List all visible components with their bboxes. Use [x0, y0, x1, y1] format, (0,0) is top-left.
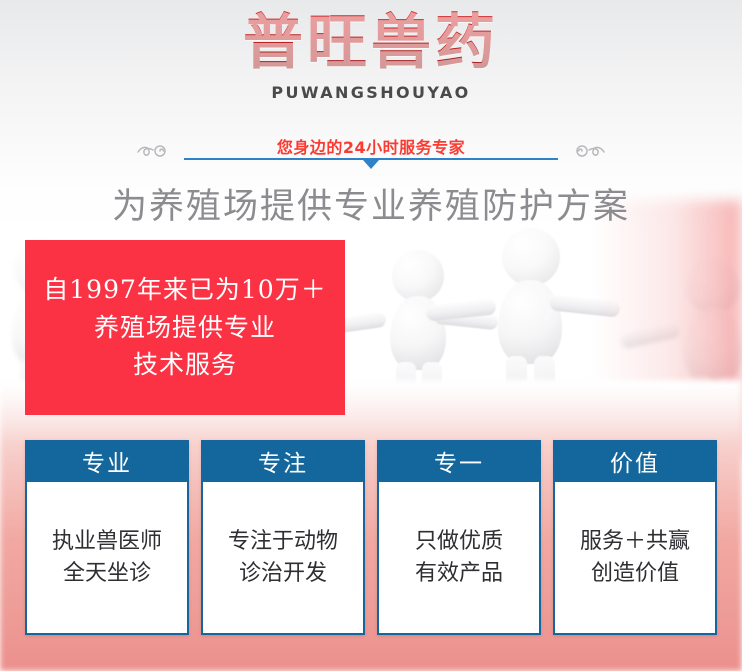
feature-card-line: 诊治开发 — [239, 559, 327, 589]
feature-card-2[interactable]: 专注 专注于动物 诊治开发 — [201, 440, 365, 635]
feature-card-line: 专注于动物 — [228, 527, 338, 557]
promo-banner: 普旺兽药 PUWANGSHOUYAO 您身边的24小时服务专家 — [0, 0, 742, 671]
feature-card-body: 专注于动物 诊治开发 — [201, 482, 365, 635]
feature-card-body: 执业兽医师 全天坐诊 — [25, 482, 189, 635]
callout-line: 自1997年来已为10万＋ — [43, 271, 326, 309]
ribbon: 您身边的24小时服务专家 — [0, 134, 742, 168]
callout-box: 自1997年来已为10万＋ 养殖场提供专业 技术服务 — [25, 240, 345, 415]
feature-card-line: 全天坐诊 — [63, 559, 151, 589]
callout-line: 养殖场提供专业 — [94, 309, 276, 347]
ribbon-core: 您身边的24小时服务专家 — [176, 134, 566, 168]
feature-card-line: 服务＋共赢 — [580, 527, 690, 557]
feature-card-line: 有效产品 — [415, 559, 503, 589]
feature-card-body: 服务＋共赢 创造价值 — [553, 482, 717, 635]
feature-card-line: 创造价值 — [591, 559, 679, 589]
feature-card-3[interactable]: 专一 只做优质 有效产品 — [377, 440, 541, 635]
feature-card-body: 只做优质 有效产品 — [377, 482, 541, 635]
feature-card-4[interactable]: 价值 服务＋共赢 创造价值 — [553, 440, 717, 635]
feature-card-title: 价值 — [553, 440, 717, 482]
brand-pinyin: PUWANGSHOUYAO — [0, 83, 742, 102]
callout-line: 技术服务 — [133, 346, 237, 384]
feature-cards: 专业 执业兽医师 全天坐诊 专注 专注于动物 诊治开发 专一 只做优质 有效产品… — [25, 440, 717, 635]
feature-card-1[interactable]: 专业 执业兽医师 全天坐诊 — [25, 440, 189, 635]
feature-card-title: 专业 — [25, 440, 189, 482]
triangle-down-icon — [363, 160, 379, 169]
feature-card-line: 执业兽医师 — [52, 527, 162, 557]
brand-title: 普旺兽药 — [0, 10, 742, 77]
feature-card-title: 专一 — [377, 440, 541, 482]
feature-card-line: 只做优质 — [415, 527, 503, 557]
flourish-swirl-icon — [134, 139, 176, 163]
page-title: 为养殖场提供专业养殖防护方案 — [0, 178, 742, 229]
brand-logo: 普旺兽药 PUWANGSHOUYAO — [0, 10, 742, 102]
flourish-swirl-icon — [566, 139, 608, 163]
ribbon-label: 您身边的24小时服务专家 — [176, 134, 566, 158]
feature-card-title: 专注 — [201, 440, 365, 482]
